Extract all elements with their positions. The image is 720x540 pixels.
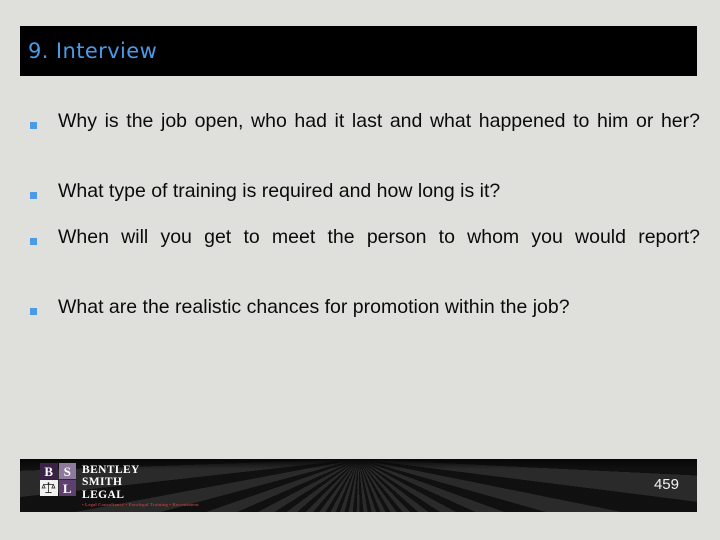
logo-letter-l: L [59, 480, 77, 496]
slide-footer: B S L BENTLEY SMITH LEGAL [20, 459, 697, 512]
page-title: 9. Interview [20, 39, 157, 63]
bullet-text: What type of training is required and ho… [58, 180, 700, 204]
list-item: What type of training is required and ho… [20, 180, 700, 204]
list-item: Why is the job open, who had it last and… [20, 110, 700, 158]
slide: 9. Interview Why is the job open, who ha… [0, 0, 720, 540]
logo-word-bentley: BENTLEY [82, 464, 199, 476]
scales-of-justice-glyph [41, 481, 56, 495]
bullet-text: Why is the job open, who had it last and… [58, 110, 700, 158]
logo-word-legal: LEGAL [82, 489, 199, 501]
logo-letter-b: B [40, 463, 58, 479]
list-item: What are the realistic chances for promo… [20, 296, 700, 320]
square-bullet-icon [30, 122, 37, 129]
square-bullet-icon [30, 308, 37, 315]
bullet-text: What are the realistic chances for promo… [58, 296, 700, 320]
bullet-list: Why is the job open, who had it last and… [20, 110, 700, 440]
logo-wordmark: BENTLEY SMITH LEGAL • Legal Consultancy … [82, 463, 199, 507]
bullet-text: When will you get to meet the person to … [58, 226, 700, 274]
square-bullet-icon [30, 192, 37, 199]
scales-of-justice-icon [40, 480, 58, 496]
slide-title-bar: 9. Interview [20, 26, 697, 76]
logo-tagline: • Legal Consultancy • Paralegal Training… [82, 502, 199, 507]
list-item: When will you get to meet the person to … [20, 226, 700, 274]
logo-letter-s: S [59, 463, 77, 479]
square-bullet-icon [30, 238, 37, 245]
bentley-smith-legal-logo: B S L BENTLEY SMITH LEGAL [40, 463, 199, 507]
logo-word-smith: SMITH [82, 476, 199, 488]
page-number: 459 [654, 476, 679, 493]
logo-letter-grid: B S L [40, 463, 76, 496]
